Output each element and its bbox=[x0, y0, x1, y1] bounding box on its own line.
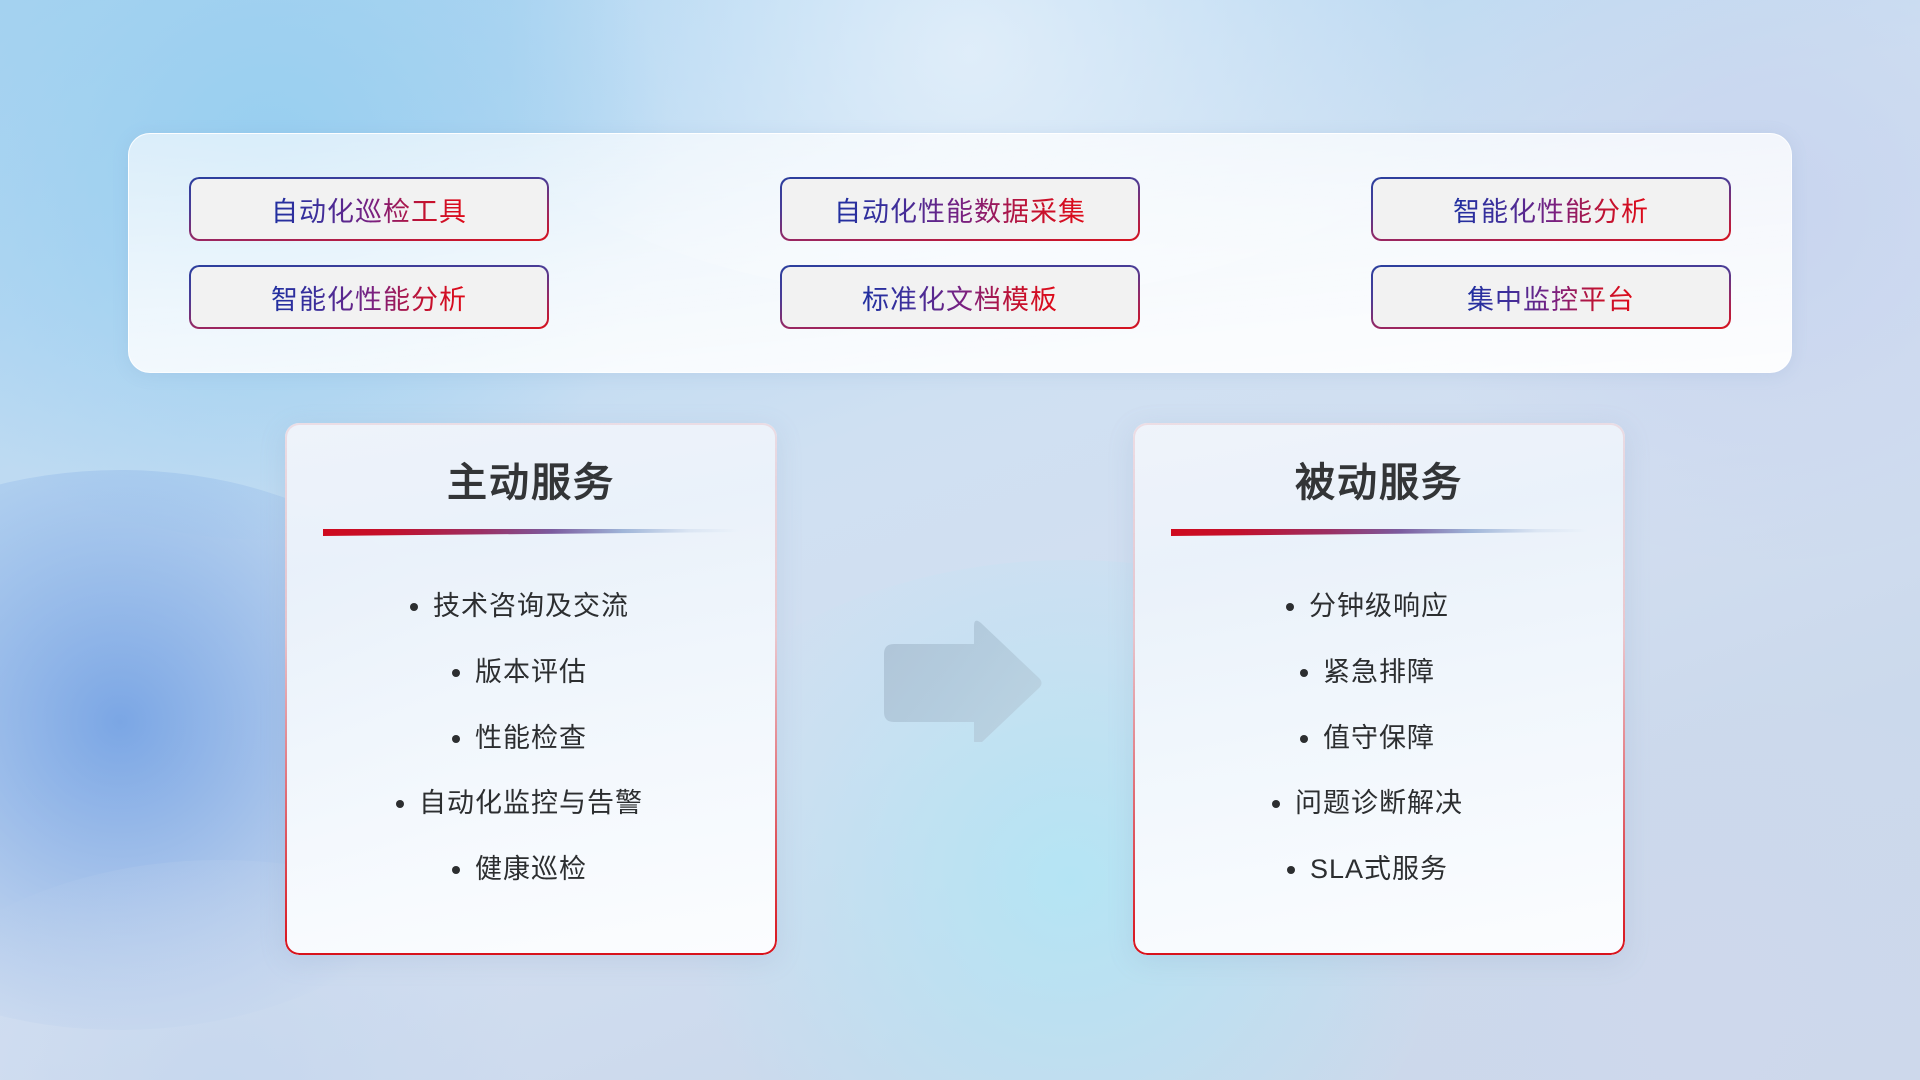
tag-automated-performance-data-collection[interactable]: 自动化性能数据采集 bbox=[780, 177, 1140, 241]
card-title-divider bbox=[1171, 527, 1587, 536]
tag-label: 标准化文档模板 bbox=[862, 278, 1058, 317]
tag-intelligent-performance-analysis-bottom[interactable]: 智能化性能分析 bbox=[189, 265, 549, 329]
tag-label: 智能化性能分析 bbox=[1453, 190, 1649, 229]
tag-standardized-document-template[interactable]: 标准化文档模板 bbox=[780, 265, 1140, 329]
tag-label: 集中监控平台 bbox=[1467, 278, 1635, 317]
divider-bar bbox=[1171, 529, 1587, 536]
reactive-service-card: 被动服务 分钟级响应 紧急排障 值守保障 问题诊断解决 SLA式服务 bbox=[1133, 423, 1625, 955]
tag-row-2: 智能化性能分析 标准化文档模板 集中监控平台 bbox=[189, 265, 1731, 329]
list-item: 性能检查 bbox=[475, 722, 587, 756]
divider-bar bbox=[323, 529, 739, 536]
card-content: 被动服务 分钟级响应 紧急排障 值守保障 问题诊断解决 SLA式服务 bbox=[1133, 423, 1625, 955]
slide-stage: 自动化巡检工具 自动化性能数据采集 智能化性能分析 智能化性能分析 标准化文档模… bbox=[0, 0, 1920, 1080]
capability-tag-panel: 自动化巡检工具 自动化性能数据采集 智能化性能分析 智能化性能分析 标准化文档模… bbox=[128, 133, 1792, 373]
list-item: 技术咨询及交流 bbox=[433, 590, 629, 624]
tag-row-1: 自动化巡检工具 自动化性能数据采集 智能化性能分析 bbox=[189, 177, 1731, 241]
arrow-right-icon bbox=[876, 620, 1044, 742]
list-item: 版本评估 bbox=[475, 656, 587, 690]
tag-label: 自动化巡检工具 bbox=[271, 190, 467, 229]
card-content: 主动服务 技术咨询及交流 版本评估 性能检查 自动化监控与告警 健康巡检 bbox=[285, 423, 777, 955]
list-item: 健康巡检 bbox=[475, 853, 587, 887]
card-title-reactive: 被动服务 bbox=[1171, 457, 1587, 509]
tag-automated-inspection-tool[interactable]: 自动化巡检工具 bbox=[189, 177, 549, 241]
tag-intelligent-performance-analysis-top[interactable]: 智能化性能分析 bbox=[1371, 177, 1731, 241]
reactive-service-list: 分钟级响应 紧急排障 值守保障 问题诊断解决 SLA式服务 bbox=[1171, 552, 1587, 929]
list-item: 值守保障 bbox=[1323, 722, 1435, 756]
tag-label: 自动化性能数据采集 bbox=[834, 190, 1086, 229]
proactive-service-list: 技术咨询及交流 版本评估 性能检查 自动化监控与告警 健康巡检 bbox=[323, 552, 739, 929]
list-item: 问题诊断解决 bbox=[1295, 787, 1463, 821]
list-item: 紧急排障 bbox=[1323, 656, 1435, 690]
card-title-divider bbox=[323, 527, 739, 536]
list-item: 自动化监控与告警 bbox=[419, 787, 643, 821]
tag-centralized-monitoring-platform[interactable]: 集中监控平台 bbox=[1371, 265, 1731, 329]
list-item: SLA式服务 bbox=[1310, 853, 1448, 887]
card-title-proactive: 主动服务 bbox=[323, 457, 739, 509]
proactive-service-card: 主动服务 技术咨询及交流 版本评估 性能检查 自动化监控与告警 健康巡检 bbox=[285, 423, 777, 955]
tag-label: 智能化性能分析 bbox=[271, 278, 467, 317]
list-item: 分钟级响应 bbox=[1309, 590, 1449, 624]
